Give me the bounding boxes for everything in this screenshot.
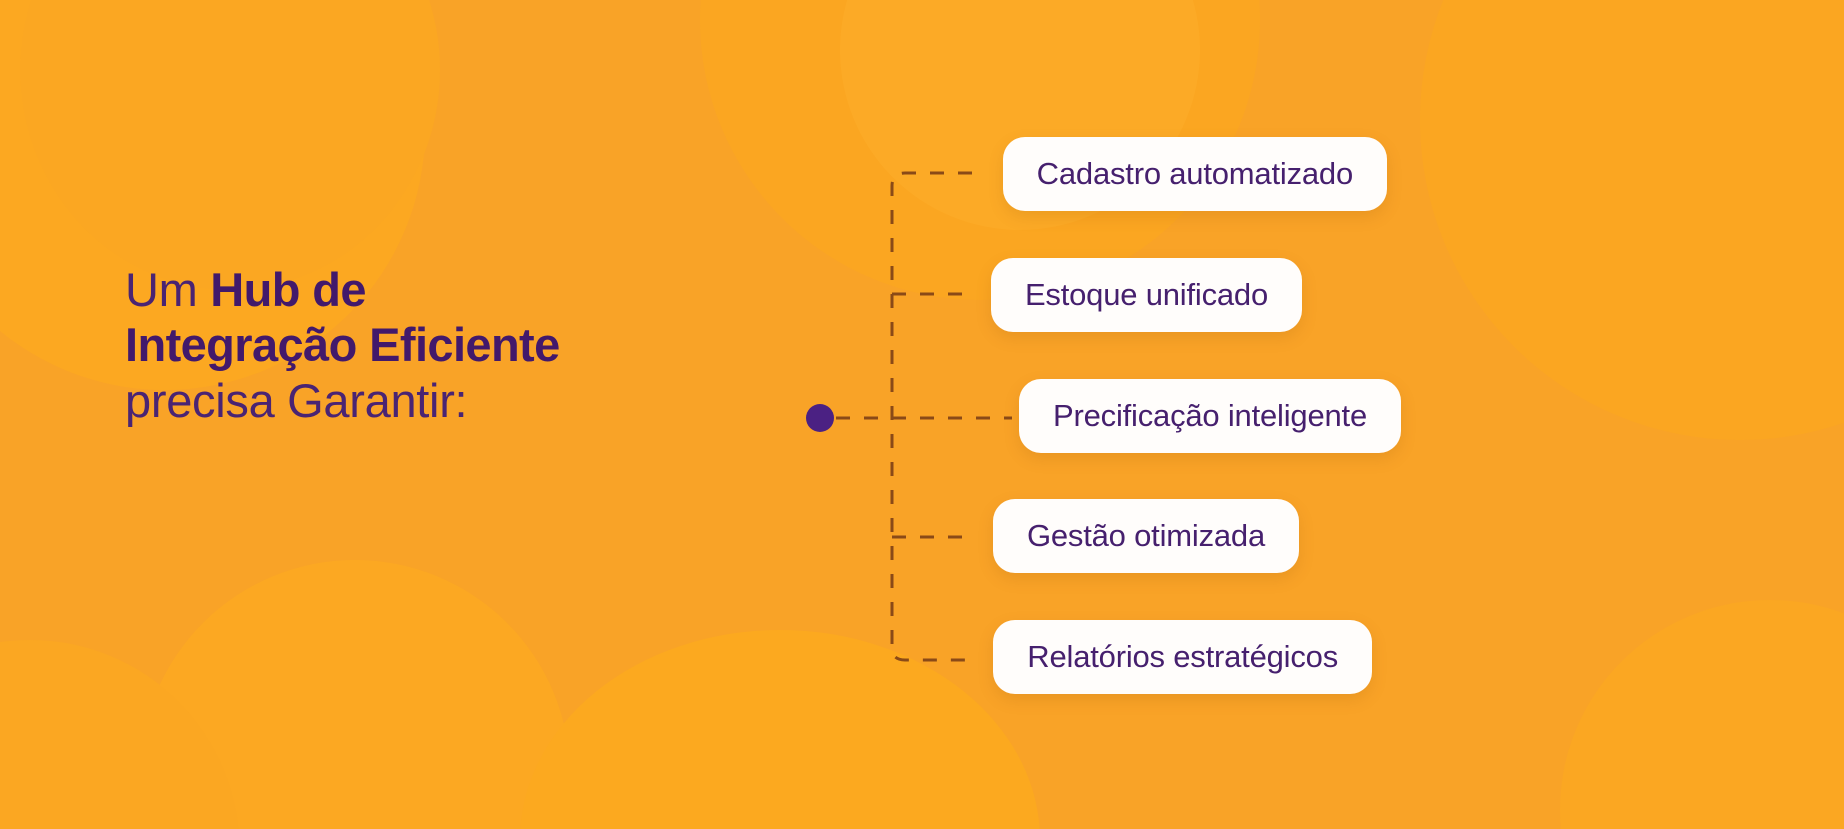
feature-card-label: Precificação inteligente — [1053, 398, 1367, 434]
feature-card-label: Estoque unificado — [1025, 277, 1268, 313]
feature-card-label: Cadastro automatizado — [1037, 156, 1353, 192]
feature-card-precificacao-inteligente[interactable]: Precificação inteligente — [1019, 379, 1401, 453]
feature-card-label: Relatórios estratégicos — [1027, 639, 1338, 675]
feature-card-gestao-otimizada[interactable]: Gestão otimizada — [993, 499, 1299, 573]
feature-card-cadastro-automatizado[interactable]: Cadastro automatizado — [1003, 137, 1387, 211]
feature-card-list: Cadastro automatizado Estoque unificado … — [0, 0, 1844, 829]
infographic-banner: Um Hub de Integração Eficiente precisa G… — [0, 0, 1844, 829]
feature-card-estoque-unificado[interactable]: Estoque unificado — [991, 258, 1302, 332]
feature-card-relatorios-estrategicos[interactable]: Relatórios estratégicos — [993, 620, 1372, 694]
feature-card-label: Gestão otimizada — [1027, 518, 1265, 554]
